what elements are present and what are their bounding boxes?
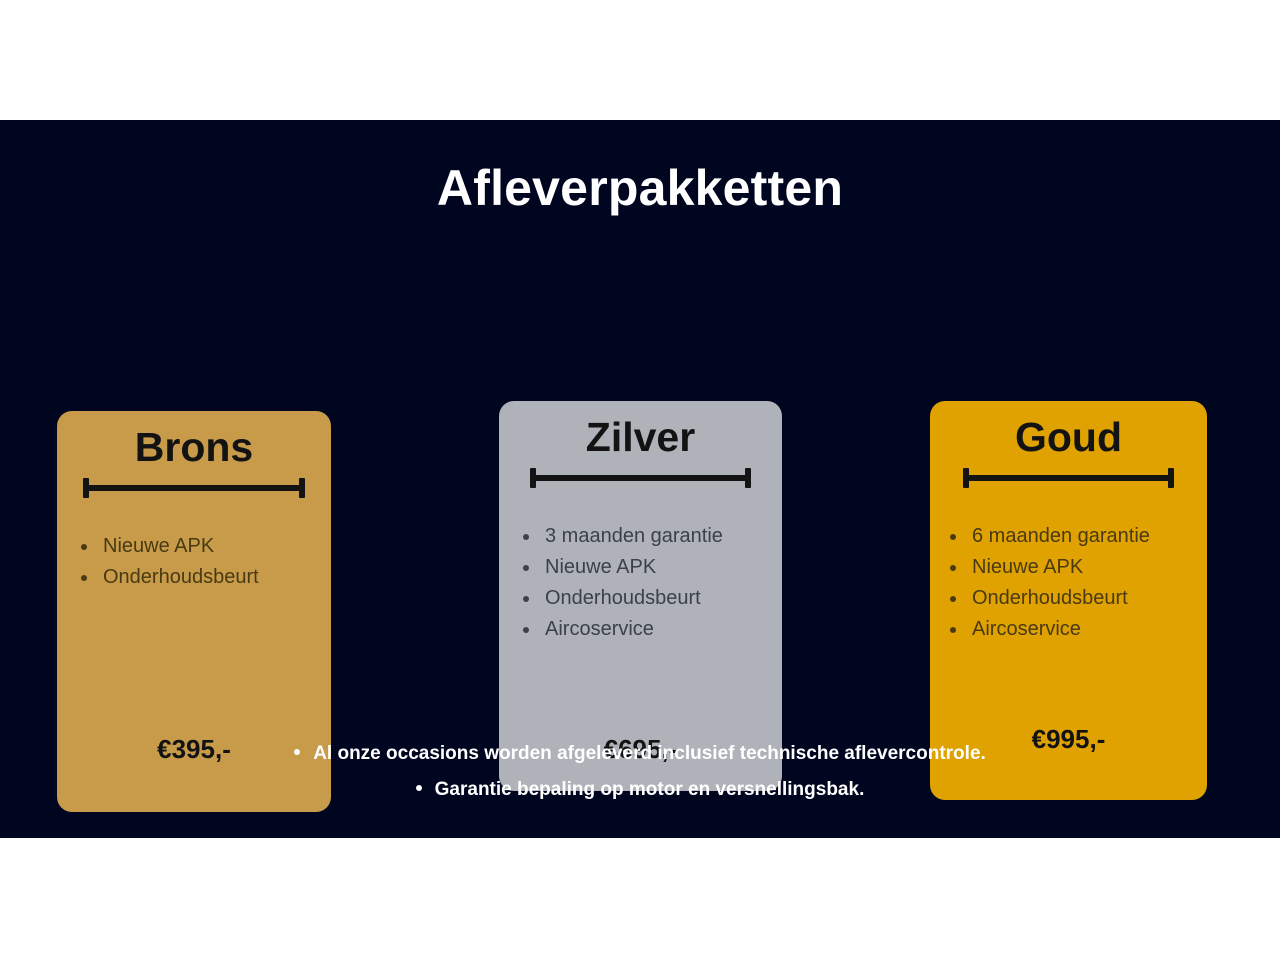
feature-label: Onderhoudsbeurt: [972, 587, 1128, 609]
footer-note-2: Garantie bepaling op motor en versnellin…: [0, 772, 1280, 808]
bullet-icon: [950, 596, 956, 602]
bullet-icon: [416, 785, 422, 791]
divider-cap-right: [299, 478, 305, 498]
feature-label: Aircoservice: [545, 618, 654, 640]
bullet-icon: [523, 534, 529, 540]
bullet-icon: [523, 565, 529, 571]
divider-cap-right: [745, 468, 751, 488]
list-item: Aircoservice: [517, 614, 782, 645]
bullet-icon: [950, 627, 956, 633]
divider-bar: [83, 485, 305, 491]
list-item: Nieuwe APK: [944, 552, 1207, 583]
page-title: Afleverpakketten: [0, 163, 1280, 213]
bullet-icon: [81, 544, 87, 550]
feature-label: Nieuwe APK: [972, 556, 1083, 578]
divider-zilver: [530, 468, 751, 486]
package-name-zilver: Zilver: [499, 417, 782, 458]
divider-bar: [963, 475, 1174, 481]
divider-cap-left: [83, 478, 89, 498]
feature-label: Nieuwe APK: [103, 535, 214, 557]
bullet-icon: [294, 749, 300, 755]
package-card-zilver[interactable]: Zilver 3 maanden garantie Nieuwe APK Ond…: [499, 401, 782, 791]
feature-label: 3 maanden garantie: [545, 525, 723, 547]
list-item: Onderhoudsbeurt: [517, 583, 782, 614]
feature-label: Nieuwe APK: [545, 556, 656, 578]
list-item: Aircoservice: [944, 614, 1207, 645]
pricing-slide: Afleverpakketten Brons Nieuwe APK Onderh…: [0, 120, 1280, 838]
footer-note-1: Al onze occasions worden afgeleverd incl…: [0, 736, 1280, 772]
bullet-icon: [950, 534, 956, 540]
divider-goud: [963, 468, 1174, 486]
list-item: Onderhoudsbeurt: [944, 583, 1207, 614]
feature-label: Aircoservice: [972, 618, 1081, 640]
divider-cap-left: [963, 468, 969, 488]
list-item: Nieuwe APK: [75, 531, 331, 562]
package-name-brons: Brons: [57, 427, 331, 468]
divider-cap-left: [530, 468, 536, 488]
feature-list-goud: 6 maanden garantie Nieuwe APK Onderhouds…: [944, 521, 1207, 645]
bullet-icon: [950, 565, 956, 571]
feature-label: 6 maanden garantie: [972, 525, 1150, 547]
list-item: Onderhoudsbeurt: [75, 562, 331, 593]
feature-list-brons: Nieuwe APK Onderhoudsbeurt: [75, 531, 331, 593]
divider-bar: [530, 475, 751, 481]
feature-label: Onderhoudsbeurt: [103, 566, 259, 588]
footer-note-label: Al onze occasions worden afgeleverd incl…: [313, 743, 986, 764]
feature-list-zilver: 3 maanden garantie Nieuwe APK Onderhouds…: [517, 521, 782, 645]
divider-brons: [83, 478, 305, 496]
bullet-icon: [81, 575, 87, 581]
list-item: Nieuwe APK: [517, 552, 782, 583]
footer-notes: Al onze occasions worden afgeleverd incl…: [0, 736, 1280, 808]
bullet-icon: [523, 627, 529, 633]
divider-cap-right: [1168, 468, 1174, 488]
package-name-goud: Goud: [930, 417, 1207, 458]
bullet-icon: [523, 596, 529, 602]
slide-canvas: Afleverpakketten Brons Nieuwe APK Onderh…: [0, 0, 1280, 960]
feature-label: Onderhoudsbeurt: [545, 587, 701, 609]
list-item: 6 maanden garantie: [944, 521, 1207, 552]
footer-note-label: Garantie bepaling op motor en versnellin…: [435, 779, 865, 800]
list-item: 3 maanden garantie: [517, 521, 782, 552]
